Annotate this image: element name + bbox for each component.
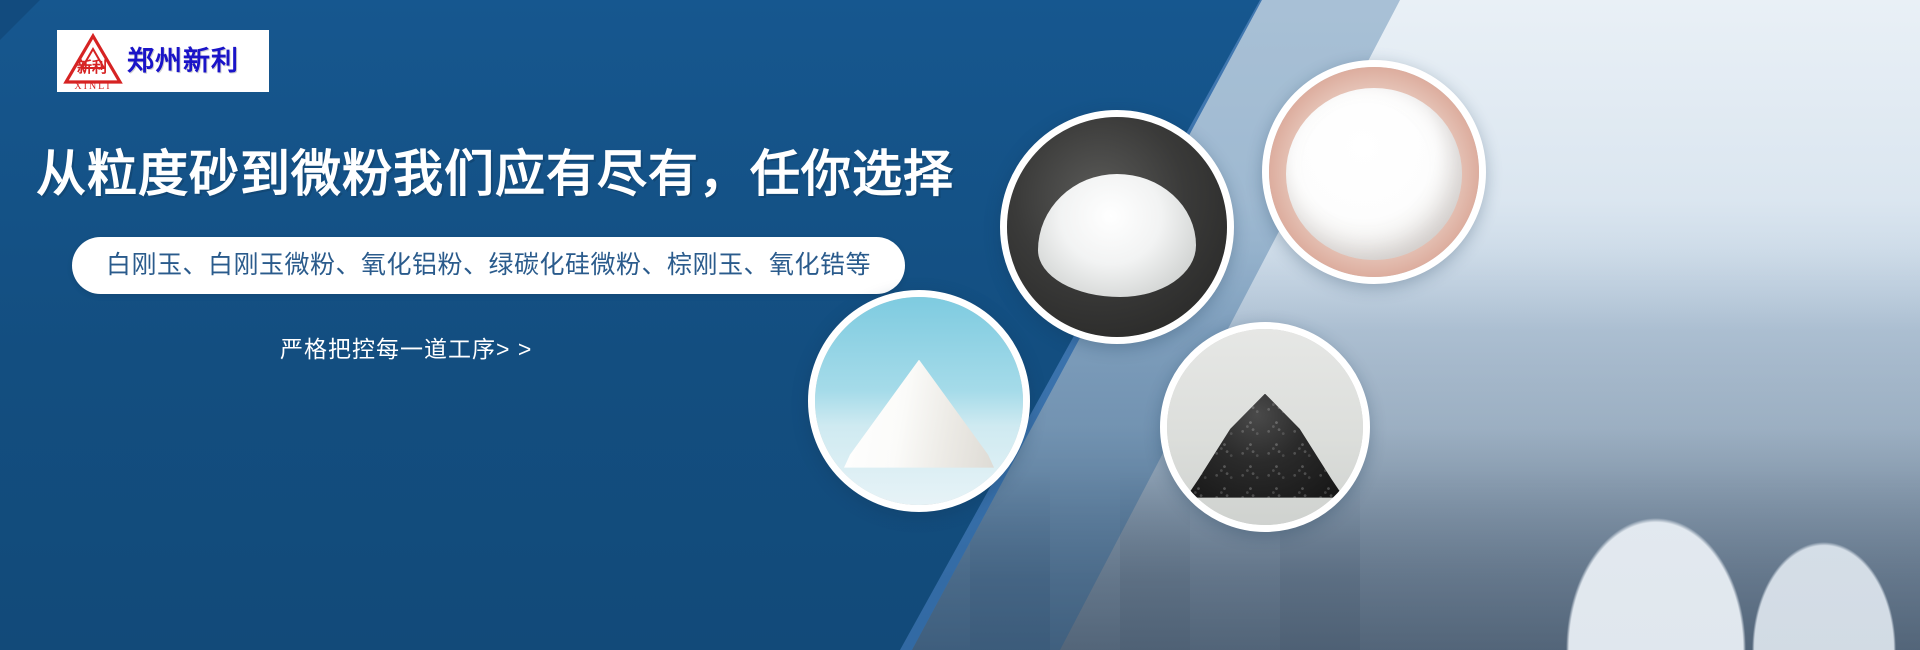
product-image-powder-cone: [808, 290, 1030, 512]
product-list-pill: 白刚玉、白刚玉微粉、氧化铝粉、绿碳化硅微粉、棕刚玉、氧化锆等: [72, 237, 905, 294]
logo-company-name: 郑州新利: [127, 48, 239, 75]
product-image-black-grains: [1160, 322, 1370, 532]
xinli-triangle-icon: 新利 XINLI: [63, 32, 123, 90]
process-link[interactable]: 严格把控每一道工序> >: [280, 330, 532, 364]
headline: 从粒度砂到微粉我们应有尽有，任你选择: [36, 148, 954, 201]
promo-banner: 新利 XINLI 郑州新利 从粒度砂到微粉我们应有尽有，任你选择 白刚玉、白刚玉…: [0, 0, 1920, 650]
logo[interactable]: 新利 XINLI 郑州新利: [57, 30, 269, 92]
svg-text:新利: 新利: [77, 58, 107, 76]
product-image-white-powder: [1262, 60, 1486, 284]
product-list-text: 白刚玉、白刚玉微粉、氧化铝粉、绿碳化硅微粉、棕刚玉、氧化锆等: [106, 253, 871, 278]
svg-text:XINLI: XINLI: [74, 81, 111, 90]
product-image-white-grit: [1000, 110, 1234, 344]
white-powder-mound: [1286, 88, 1462, 260]
